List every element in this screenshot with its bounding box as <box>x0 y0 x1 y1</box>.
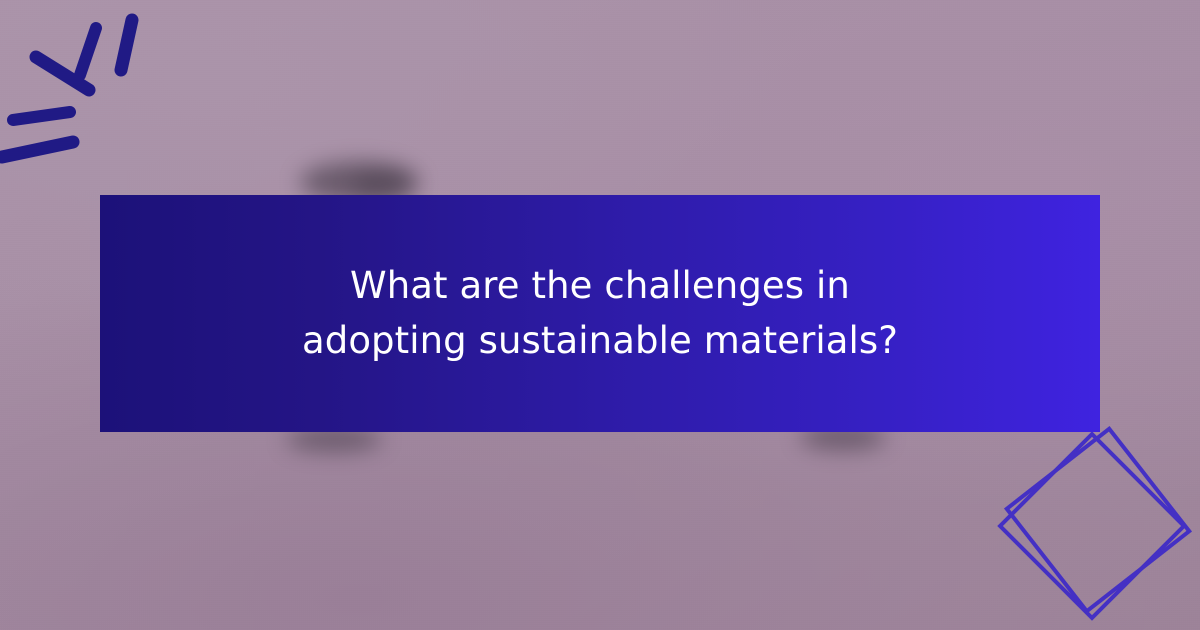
headline-banner: What are the challenges in adopting sust… <box>100 195 1100 432</box>
page-title: What are the challenges in adopting sust… <box>280 259 920 367</box>
rotated-squares-decoration <box>985 415 1200 630</box>
sparkle-burst-icon <box>0 0 220 190</box>
social-card-canvas: What are the challenges in adopting sust… <box>0 0 1200 630</box>
